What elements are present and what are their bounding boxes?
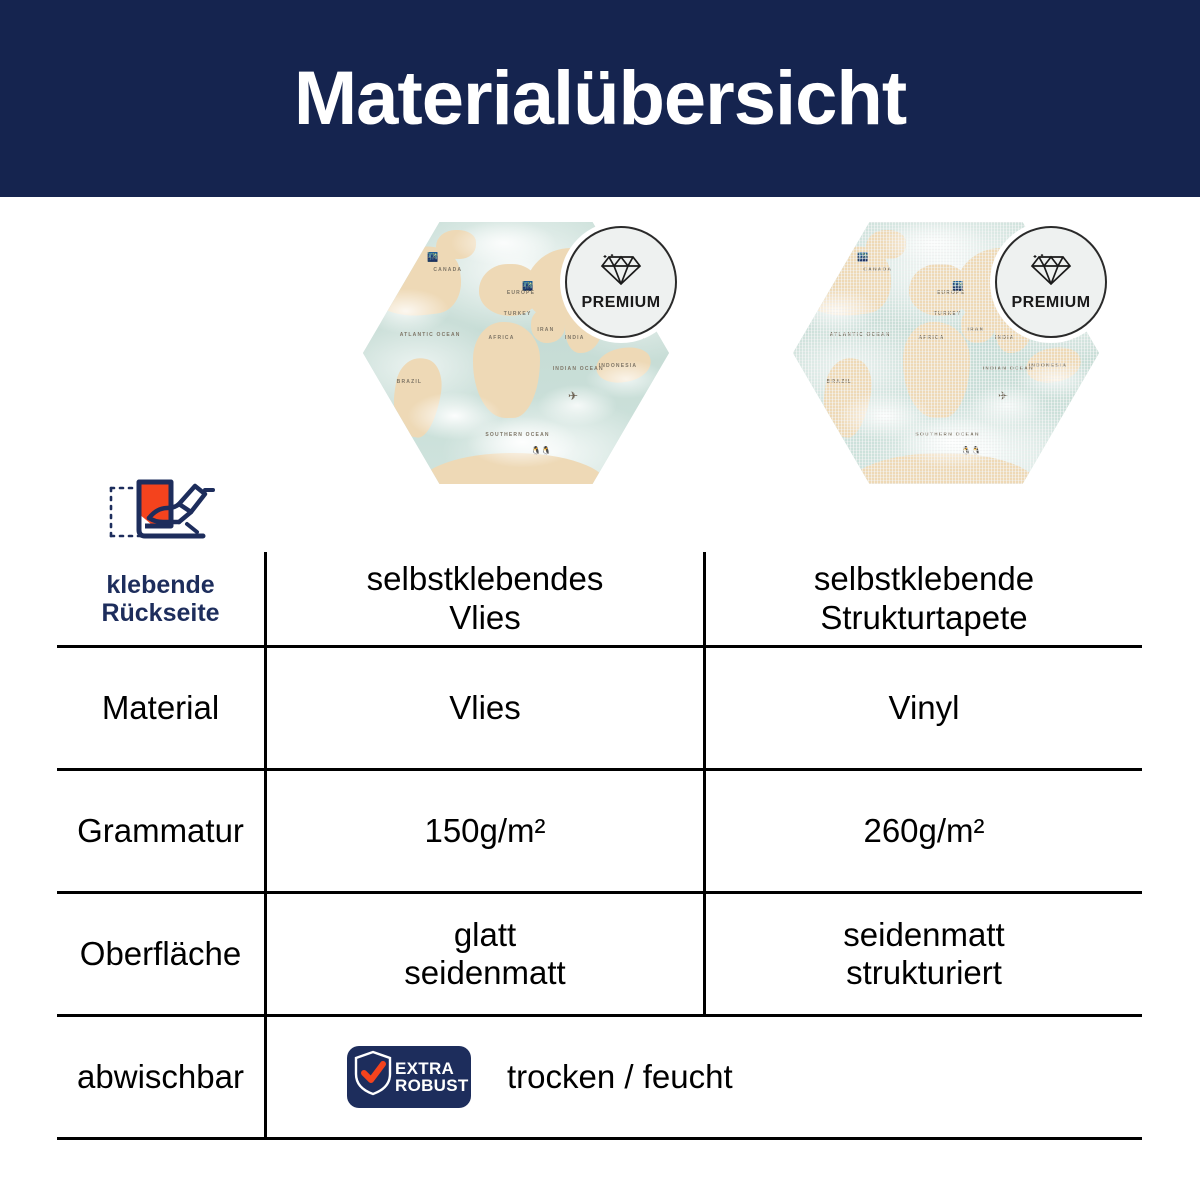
map-label-europe: EUROPE <box>507 290 535 296</box>
row-label-grammatur: Grammatur <box>57 770 266 893</box>
diamond-icon-2 <box>1030 253 1072 292</box>
extra-robust-badge-label: EXTRA ROBUST <box>395 1060 469 1095</box>
cell-grammatur-vlies: 150g/m² <box>266 770 705 893</box>
product-header-vlies-line2: Vlies <box>449 599 521 636</box>
product-header-strukturtapete-line2: Strukturtapete <box>820 599 1027 636</box>
cell-oberflaeche-vlies: glatt seidenmatt <box>266 893 705 1016</box>
table-row-grammatur: Grammatur 150g/m² 260g/m² <box>57 770 1142 893</box>
map-label-southern: SOUTHERN OCEAN <box>485 432 549 438</box>
map-label-canada: CANADA <box>433 267 462 273</box>
table-row-product-names: klebende Rückseite selbstklebendes Vlies… <box>57 552 1142 647</box>
cell-oberflaeche-vlies-line2: seidenmatt <box>404 954 565 991</box>
map-label-africa: AFRICA <box>488 335 514 341</box>
sticky-back-label-line2: Rückseite <box>101 599 219 627</box>
shield-check-icon <box>353 1050 393 1104</box>
cell-grammatur-strukturtapete: 260g/m² <box>705 770 1143 893</box>
extra-robust-badge: EXTRA ROBUST <box>347 1046 471 1108</box>
map-label-india: INDIA <box>565 335 585 341</box>
map-label-iran: IRAN <box>537 327 554 333</box>
premium-badge-vlies: PREMIUM <box>565 226 677 338</box>
extra-robust-line1: EXTRA <box>395 1059 454 1078</box>
cell-oberflaeche-strukturtapete: seidenmatt strukturiert <box>705 893 1143 1016</box>
premium-badge-strukturtapete: PREMIUM <box>995 226 1107 338</box>
row-label-material: Material <box>57 647 266 770</box>
product-image-vlies[interactable]: 🌃 🌃 ✈ 🐧🐧 ATLANTIC OCEAN INDIAN OCEAN SOU… <box>363 222 669 484</box>
biplane-icon: ✈ <box>568 390 578 402</box>
product-images-area: 🌃 🌃 ✈ 🐧🐧 ATLANTIC OCEAN INDIAN OCEAN SOU… <box>0 197 1200 497</box>
table-row-material: Material Vlies Vinyl <box>57 647 1142 770</box>
sticky-back-label-line1: klebende <box>106 571 214 599</box>
product-header-vlies: selbstklebendes Vlies <box>266 552 705 647</box>
premium-badge-label-2: PREMIUM <box>1011 295 1090 311</box>
cell-material-vlies: Vlies <box>266 647 705 770</box>
product-image-strukturtapete[interactable]: 🌃 🌃 ✈ 🐧🐧 ATLANTIC OCEAN INDIAN OCEAN SOU… <box>793 222 1099 484</box>
page-title: Materialübersicht <box>294 61 906 137</box>
product-header-strukturtapete: selbstklebende Strukturtapete <box>705 552 1143 647</box>
map-label-atlantic: ATLANTIC OCEAN <box>400 332 461 338</box>
product-header-vlies-line1: selbstklebendes <box>367 560 604 597</box>
table-row-oberflaeche: Oberfläche glatt seidenmatt seidenmatt s… <box>57 893 1142 1016</box>
row-label-oberflaeche: Oberfläche <box>57 893 266 1016</box>
extra-robust-line2: ROBUST <box>395 1076 469 1095</box>
map-label-indian: INDIAN OCEAN <box>553 366 604 372</box>
map-label-indonesia: INDONESIA <box>599 363 638 369</box>
product-header-strukturtapete-line1: selbstklebende <box>814 560 1034 597</box>
sticky-back-label: klebende Rückseite <box>67 571 254 627</box>
sticky-back-cell: klebende Rückseite <box>57 552 266 647</box>
map-label-turkey: TURKEY <box>504 311 532 317</box>
penguins-icon: 🐧🐧 <box>531 447 551 455</box>
cell-oberflaeche-vlies-line1: glatt <box>454 916 516 953</box>
cell-abwischbar-value: EXTRA ROBUST trocken / feucht <box>266 1016 1143 1139</box>
peel-sticker-hand-icon <box>57 474 264 548</box>
diamond-icon <box>600 253 642 292</box>
cell-oberflaeche-strukturtapete-line2: strukturiert <box>846 954 1002 991</box>
cell-oberflaeche-strukturtapete-line1: seidenmatt <box>843 916 1004 953</box>
abwischbar-description: trocken / feucht <box>507 1058 733 1096</box>
cell-material-strukturtapete: Vinyl <box>705 647 1143 770</box>
table-row-abwischbar: abwischbar EXTRA ROBUST <box>57 1016 1142 1139</box>
material-spec-table: klebende Rückseite selbstklebendes Vlies… <box>57 552 1142 1140</box>
map-label-brazil: BRAZIL <box>397 379 423 385</box>
premium-badge-label: PREMIUM <box>581 295 660 311</box>
page-header: Materialübersicht <box>0 0 1200 197</box>
row-label-abwischbar: abwischbar <box>57 1016 266 1139</box>
hot-air-balloon-icon: 🌃 <box>427 253 438 262</box>
